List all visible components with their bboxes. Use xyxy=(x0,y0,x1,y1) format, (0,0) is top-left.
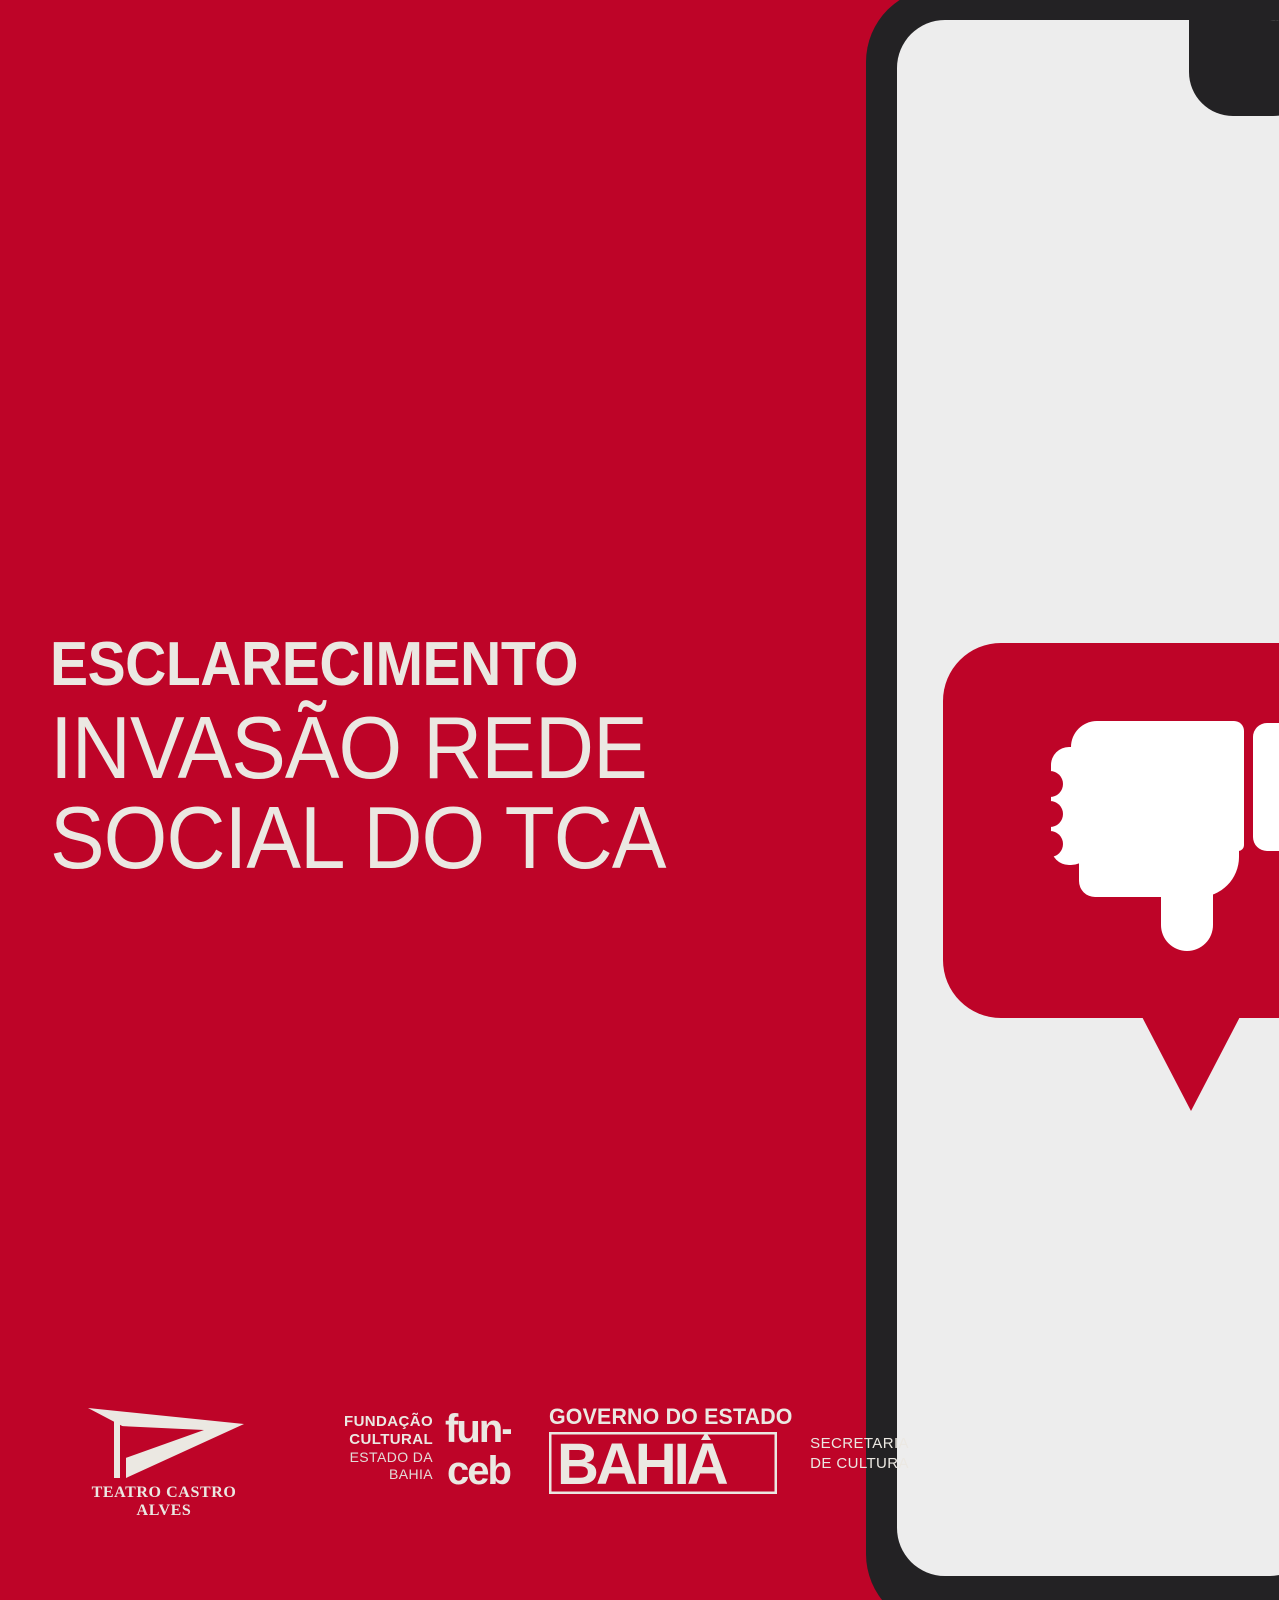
headline-kicker: ESCLARECIMENTO xyxy=(50,636,768,693)
funceb-monogram-icon: fun- ceb xyxy=(445,1406,511,1490)
secretaria-line-2: DE CULTURA xyxy=(810,1454,909,1474)
thumb-digit-shape xyxy=(1161,861,1213,951)
secretaria-line-1: SECRETARIA xyxy=(810,1434,909,1454)
funceb-line-1: FUNDAÇÃO xyxy=(344,1413,433,1431)
thumb-palm-shape xyxy=(1071,721,1244,851)
logo-funceb: FUNDAÇÃO CULTURAL ESTADO DA BAHIA fun- c… xyxy=(344,1406,511,1490)
svg-text:ceb: ceb xyxy=(447,1449,510,1490)
bahia-stack: GOVERNO DO ESTADO BAHIA xyxy=(549,1404,800,1494)
knuckle-notch-1 xyxy=(1037,771,1063,797)
logo-strip: TEATRO CASTRO ALVES FUNDAÇÃO CULTURAL ES… xyxy=(80,1398,909,1514)
funceb-wordmark: FUNDAÇÃO CULTURAL ESTADO DA BAHIA xyxy=(344,1413,433,1484)
phone-screen xyxy=(897,20,1279,1576)
svg-text:BAHIA: BAHIA xyxy=(557,1432,728,1494)
svg-text:fun-: fun- xyxy=(445,1407,511,1451)
thumb-cuff-shape xyxy=(1253,723,1279,851)
phone-notch xyxy=(1189,20,1279,116)
bahia-secretaria-label: SECRETARIA DE CULTURA xyxy=(810,1434,909,1473)
logo-governo-bahia: GOVERNO DO ESTADO BAHIA SECRETARIA DE CU… xyxy=(549,1404,909,1494)
logo-tca-name: TEATRO CASTRO ALVES xyxy=(80,1484,248,1520)
thumbs-down-icon xyxy=(1043,721,1279,951)
funceb-line-3: ESTADO DA xyxy=(344,1449,433,1466)
bahia-wordmark-icon: BAHIA xyxy=(549,1432,777,1494)
bahia-governo-label: GOVERNO DO ESTADO xyxy=(549,1404,793,1430)
funceb-line-2: CULTURAL xyxy=(344,1431,433,1449)
poster-canvas: ESCLARECIMENTO INVASÃO REDE SOCIAL DO TC… xyxy=(0,0,1279,1600)
pennant-arrow-icon xyxy=(84,1400,244,1478)
speech-bubble-tail xyxy=(1139,1011,1243,1111)
headline-line-2: SOCIAL DO TCA xyxy=(50,793,775,883)
logo-teatro-castro-alves: TEATRO CASTRO ALVES xyxy=(80,1398,248,1510)
knuckle-notch-2 xyxy=(1037,801,1063,827)
headline-line-1: INVASÃO REDE xyxy=(50,703,775,793)
knuckle-notch-3 xyxy=(1037,831,1063,857)
thumb-lower-shape xyxy=(1079,839,1239,897)
smartphone-mockup xyxy=(866,0,1279,1600)
funceb-line-4: BAHIA xyxy=(344,1466,433,1483)
speech-bubble xyxy=(943,643,1279,1113)
headline-block: ESCLARECIMENTO INVASÃO REDE SOCIAL DO TC… xyxy=(50,636,830,883)
